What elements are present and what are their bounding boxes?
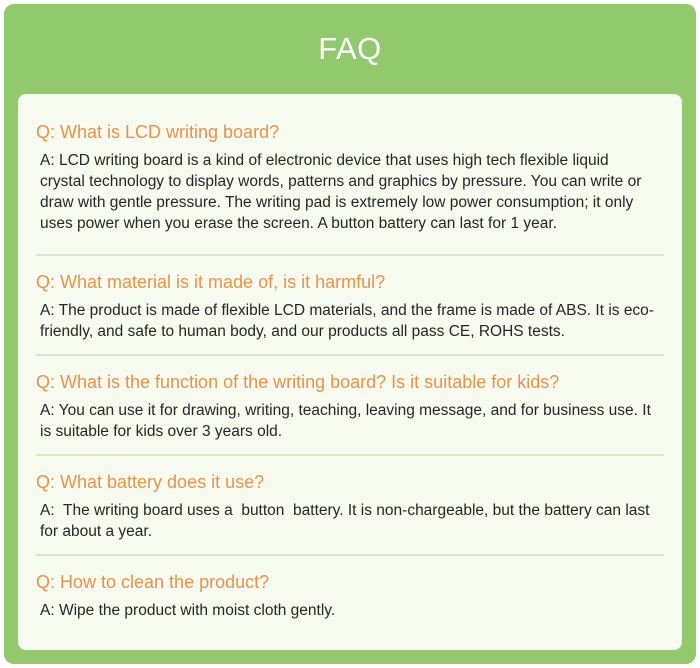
faq-item: Q: What is LCD writing board? A: LCD wri…: [36, 94, 664, 254]
faq-frame: FAQ Q: What is LCD writing board? A: LCD…: [4, 4, 696, 664]
faq-answer: A: You can use it for drawing, writing, …: [36, 400, 664, 442]
faq-item: Q: What battery does it use? A: The writ…: [36, 454, 664, 554]
faq-question: Q: How to clean the product?: [36, 570, 664, 594]
faq-answer: A: The writing board uses a button batte…: [36, 500, 664, 542]
faq-question: Q: What material is it made of, is it ha…: [36, 270, 664, 294]
faq-answer: A: Wipe the product with moist cloth gen…: [36, 600, 664, 621]
faq-item: Q: What is the function of the writing b…: [36, 354, 664, 454]
faq-item: Q: How to clean the product? A: Wipe the…: [36, 554, 664, 650]
faq-answer: A: The product is made of flexible LCD m…: [36, 300, 664, 342]
faq-list: Q: What is LCD writing board? A: LCD wri…: [36, 94, 664, 650]
faq-question: Q: What is LCD writing board?: [36, 120, 664, 144]
faq-answer: A: LCD writing board is a kind of electr…: [36, 150, 664, 234]
page-title: FAQ: [318, 31, 382, 67]
faq-card: Q: What is LCD writing board? A: LCD wri…: [18, 94, 682, 650]
faq-question: Q: What is the function of the writing b…: [36, 370, 664, 394]
faq-header: FAQ: [4, 4, 696, 94]
faq-item: Q: What material is it made of, is it ha…: [36, 254, 664, 354]
faq-question: Q: What battery does it use?: [36, 470, 664, 494]
